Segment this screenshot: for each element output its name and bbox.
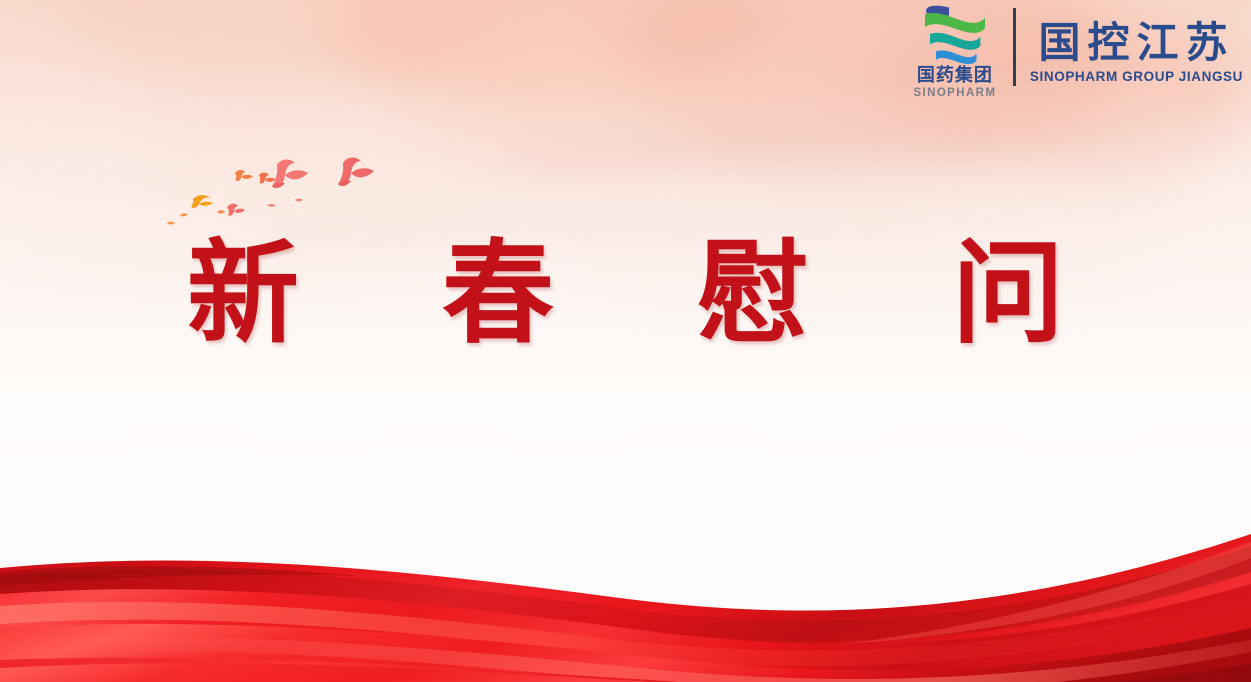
sinopharm-group-logo: 国药集团 SINOPHARM bbox=[905, 4, 1005, 99]
logo-brand-en: SINOPHARM GROUP JIANGSU bbox=[1030, 69, 1243, 84]
bird-icon bbox=[217, 210, 225, 213]
jiangsu-brand-logo: 国控江苏 SINOPHARM GROUP JIANGSU bbox=[1030, 18, 1243, 84]
bird-icon bbox=[227, 204, 245, 216]
bird-icon bbox=[191, 195, 213, 208]
bird-icon bbox=[259, 173, 276, 184]
sinopharm-wave-mark bbox=[916, 4, 994, 66]
bird-icon bbox=[235, 170, 253, 181]
logo-group-cn: 国药集团 bbox=[917, 66, 993, 85]
bird-icon bbox=[338, 157, 374, 186]
bird-icon bbox=[180, 213, 188, 216]
logo-lockup: 国药集团 SINOPHARM 国控江苏 SINOPHARM GROUP JIAN… bbox=[905, 4, 1243, 99]
red-silk-ribbon bbox=[0, 532, 1251, 682]
logo-divider bbox=[1013, 8, 1016, 86]
bird-icon bbox=[267, 204, 276, 206]
bird-icon bbox=[272, 159, 308, 188]
logo-brand-cn: 国控江苏 bbox=[1038, 22, 1234, 64]
bird-icon bbox=[167, 222, 175, 225]
poster-canvas: 国药集团 SINOPHARM 国控江苏 SINOPHARM GROUP JIAN… bbox=[0, 0, 1251, 682]
page-title: 新 春 慰 问 bbox=[0, 228, 1251, 360]
logo-group-en: SINOPHARM bbox=[913, 87, 996, 99]
bird-icon bbox=[295, 199, 303, 202]
